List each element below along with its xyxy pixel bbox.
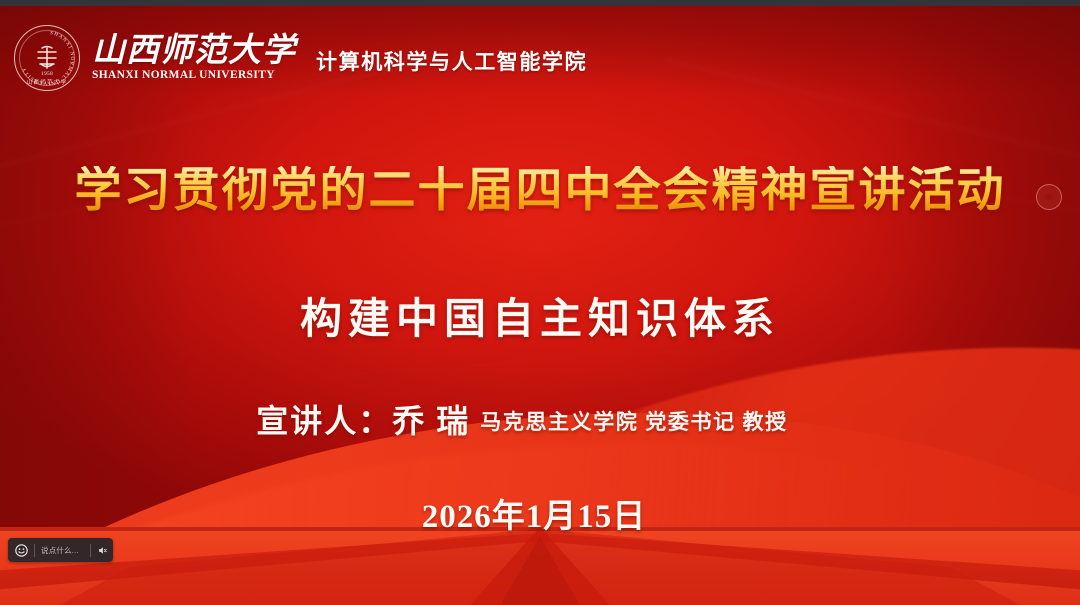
party-emblem-watermark-icon: [1036, 184, 1062, 210]
university-seal-icon: SHANXI NORMAL UNIVERSITY 1958 山西师范大学: [14, 25, 80, 91]
school-department-name: 计算机科学与人工智能学院: [316, 46, 587, 76]
seal-bottom-cn: 山西师范大学: [15, 78, 79, 86]
seal-emblem-icon: [32, 43, 62, 73]
wordmark-chinese: 山西师范大学: [92, 35, 296, 69]
emoji-glyph-svg: [15, 544, 28, 557]
comment-input[interactable]: 说点什么...: [35, 545, 90, 556]
window-top-strip: [0, 0, 1080, 6]
live-stream-slide: SHANXI NORMAL UNIVERSITY 1958 山西师范大学: [0, 0, 1080, 605]
speaker-mute-icon[interactable]: [91, 545, 113, 556]
header-inner: SHANXI NORMAL UNIVERSITY 1958 山西师范大学: [0, 25, 587, 91]
bottom-radiating-fan: [0, 527, 1080, 605]
emblem-glyph-svg: [1042, 190, 1056, 204]
fan-blades-svg: [0, 527, 1080, 605]
university-wordmark: 山西师范大学 SHANXI NORMAL UNIVERSITY: [92, 35, 296, 82]
mute-glyph-svg: [97, 545, 108, 556]
comment-input-bar[interactable]: 说点什么...: [8, 538, 113, 562]
slide-header: SHANXI NORMAL UNIVERSITY 1958 山西师范大学: [0, 6, 1080, 110]
emoji-smiley-icon[interactable]: [8, 544, 34, 557]
wordmark-english: SHANXI NORMAL UNIVERSITY: [92, 69, 300, 81]
seal-year: 1958: [15, 71, 79, 77]
